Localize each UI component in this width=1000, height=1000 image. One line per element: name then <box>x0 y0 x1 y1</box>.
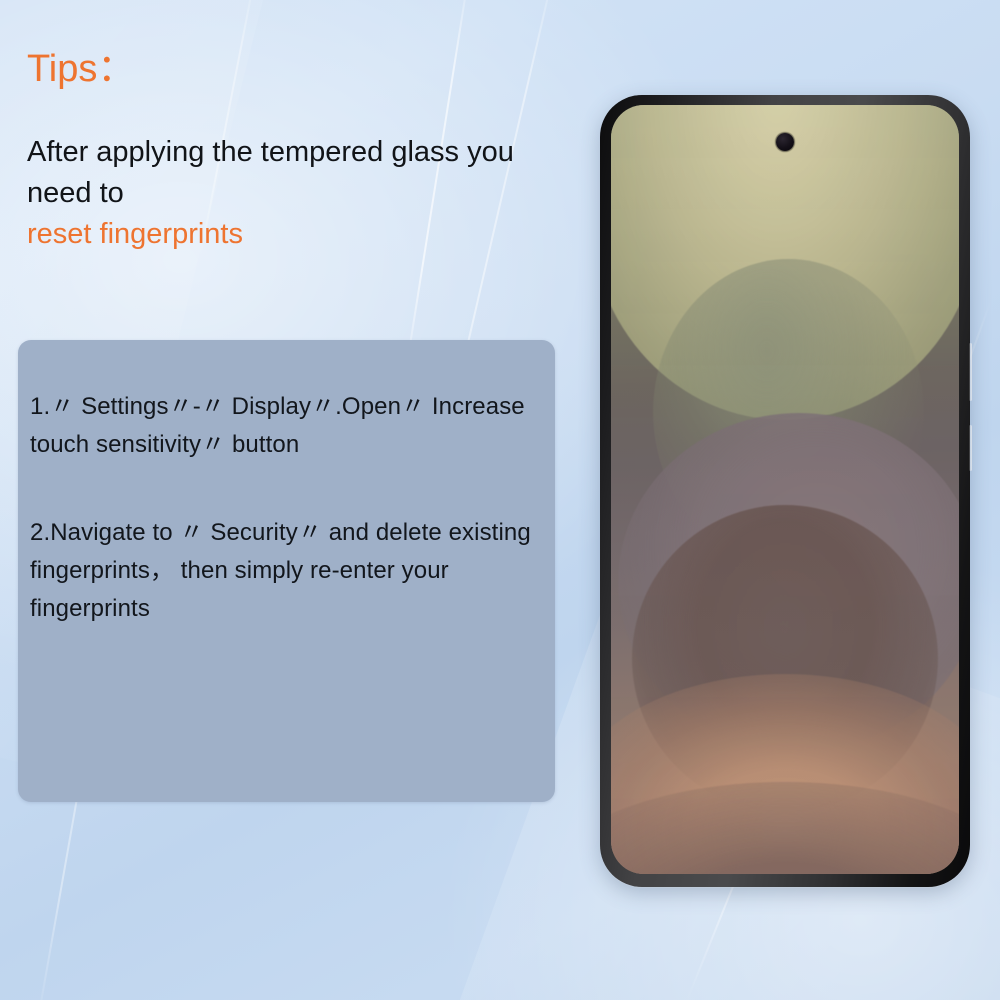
instruction-step: 1.〃 Settings〃-〃 Display〃.Open〃 Increase … <box>30 388 539 464</box>
intro-line-accent: reset fingerprints <box>27 214 547 255</box>
phone-mockup <box>600 95 970 887</box>
instruction-step: 2.Navigate to 〃 Security〃 and delete exi… <box>30 514 539 628</box>
instructions-panel: 1.〃 Settings〃-〃 Display〃.Open〃 Increase … <box>18 340 555 802</box>
power-button[interactable] <box>969 343 972 401</box>
intro-line-1: After applying the tempered glass <box>27 136 459 168</box>
promo-slide: Tips： After applying the tempered glass … <box>0 0 1000 1000</box>
phone-screen <box>611 105 959 874</box>
instructions-list: 1.〃 Settings〃-〃 Display〃.Open〃 Increase … <box>30 388 539 628</box>
page-title: Tips： <box>27 50 135 88</box>
volume-button[interactable] <box>969 425 972 471</box>
front-camera-icon <box>776 133 794 151</box>
intro-paragraph: After applying the tempered glass you ne… <box>27 132 547 256</box>
wallpaper-veil <box>611 105 959 874</box>
